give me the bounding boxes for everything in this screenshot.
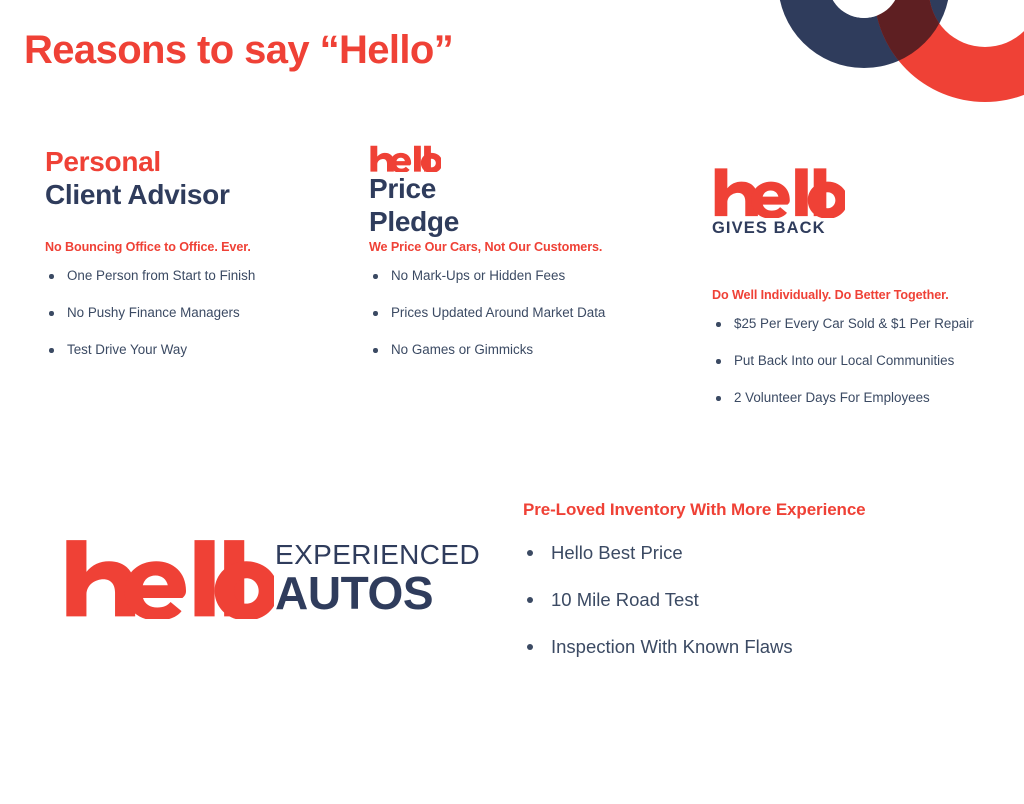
hello-wordmark-icon — [369, 145, 669, 172]
gives-back-tagline: GIVES BACK — [712, 219, 1012, 238]
column-subtitle: Do Well Individually. Do Better Together… — [712, 288, 1012, 302]
column-subtitle: No Bouncing Office to Office. Ever. — [45, 240, 345, 254]
column-subtitle: We Price Our Cars, Not Our Customers. — [369, 240, 669, 254]
list-item: Test Drive Your Way — [45, 342, 345, 358]
bottom-bullet-list: Hello Best Price 10 Mile Road Test Inspe… — [523, 542, 1003, 659]
feature-column-hello-gives-back: GIVES BACK Do Well Individually. Do Bett… — [712, 145, 1012, 427]
list-item: Inspection With Known Flaws — [523, 636, 1003, 658]
list-item: Put Back Into our Local Communities — [712, 353, 1012, 369]
bottom-subtitle: Pre-Loved Inventory With More Experience — [523, 500, 1003, 520]
bottom-feature-list: Pre-Loved Inventory With More Experience… — [523, 500, 1003, 684]
list-item: 2 Volunteer Days For Employees — [712, 390, 1012, 406]
red-ring — [874, 0, 1024, 102]
hello-wordmark-icon — [712, 167, 1012, 218]
column-bullet-list: $25 Per Every Car Sold & $1 Per Repair P… — [712, 316, 1012, 406]
hello-autos-logo: EXPERIENCED AUTOS — [62, 538, 480, 619]
column-heading: Personal Client Advisor — [45, 145, 345, 240]
list-item: Hello Best Price — [523, 542, 1003, 564]
list-item: No Games or Gimmicks — [369, 342, 669, 358]
column-heading: GIVES BACK — [712, 145, 1012, 262]
page-title: Reasons to say “Hello” — [24, 28, 453, 73]
heading-line-2: Pledge — [369, 205, 669, 238]
list-item: No Pushy Finance Managers — [45, 305, 345, 321]
decorative-rings — [744, 0, 1024, 135]
heading-line-1: Personal — [45, 145, 345, 178]
list-item: $25 Per Every Car Sold & $1 Per Repair — [712, 316, 1012, 332]
ring-overlap-hole-restore — [828, 0, 900, 18]
hello-wordmark-icon — [62, 538, 274, 619]
list-item: One Person from Start to Finish — [45, 268, 345, 284]
navy-ring — [778, 0, 950, 68]
column-bullet-list: No Mark-Ups or Hidden Fees Prices Update… — [369, 268, 669, 358]
feature-column-hello-price-pledge: Price Pledge We Price Our Cars, Not Our … — [369, 145, 669, 379]
heading-line-2: Client Advisor — [45, 178, 345, 211]
feature-column-personal-client-advisor: Personal Client Advisor No Bouncing Offi… — [45, 145, 345, 379]
list-item: Prices Updated Around Market Data — [369, 305, 669, 321]
column-bullet-list: One Person from Start to Finish No Pushy… — [45, 268, 345, 358]
list-item: 10 Mile Road Test — [523, 589, 1003, 611]
logo-wordblock: EXPERIENCED AUTOS — [275, 541, 480, 616]
heading-line-1: Price — [369, 172, 669, 205]
column-heading: Price Pledge — [369, 145, 669, 240]
list-item: No Mark-Ups or Hidden Fees — [369, 268, 669, 284]
logo-line-autos: AUTOS — [275, 570, 480, 616]
logo-line-experienced: EXPERIENCED — [275, 541, 480, 569]
ring-overlap — [874, 0, 1024, 102]
